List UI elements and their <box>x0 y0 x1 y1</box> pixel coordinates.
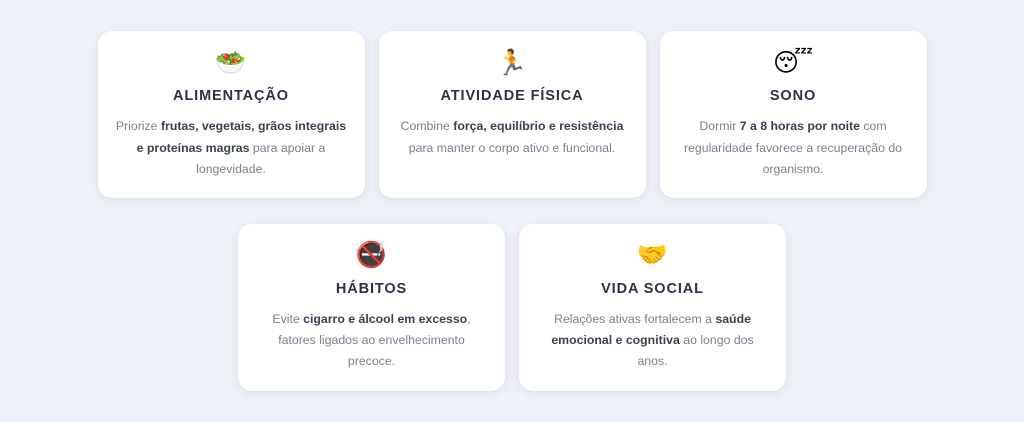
card-habitos[interactable]: 🚭 HÁBITOS Evite cigarro e álcool em exce… <box>238 224 505 391</box>
card-title-habitos: HÁBITOS <box>336 281 407 298</box>
card-title-alimentacao: ALIMENTAÇÃO <box>173 88 289 105</box>
card-alimentacao[interactable]: 🥗 ALIMENTAÇÃO Priorize frutas, vegetais,… <box>98 31 365 198</box>
person-running-icon: 🏃 <box>496 47 527 79</box>
card-body-habitos: Evite cigarro e álcool em excesso, fator… <box>256 309 487 372</box>
handshake-icon: 🤝 <box>637 240 668 272</box>
card-row-bottom: 🚭 HÁBITOS Evite cigarro e álcool em exce… <box>238 224 786 391</box>
card-title-sono: SONO <box>770 88 816 105</box>
card-title-vida-social: VIDA SOCIAL <box>601 281 704 298</box>
sleeping-face-icon: 😴 <box>773 47 813 79</box>
card-vida-social[interactable]: 🤝 VIDA SOCIAL Relações ativas fortalecem… <box>519 224 786 391</box>
card-body-atividade-fisica: Combine força, equilíbrio e resistência … <box>397 116 628 158</box>
card-body-alimentacao: Priorize frutas, vegetais, grãos integra… <box>116 116 347 179</box>
card-sono[interactable]: 😴 SONO Dormir 7 a 8 horas por noite com … <box>660 31 927 198</box>
no-smoking-icon: 🚭 <box>356 240 387 272</box>
card-title-atividade-fisica: ATIVIDADE FÍSICA <box>440 88 583 105</box>
card-body-sono: Dormir 7 a 8 horas por noite com regular… <box>678 116 909 179</box>
card-atividade-fisica[interactable]: 🏃 ATIVIDADE FÍSICA Combine força, equilí… <box>379 31 646 198</box>
card-row-top: 🥗 ALIMENTAÇÃO Priorize frutas, vegetais,… <box>98 31 927 198</box>
longevity-pillars-board: 🥗 ALIMENTAÇÃO Priorize frutas, vegetais,… <box>0 0 1024 422</box>
card-body-vida-social: Relações ativas fortalecem a saúde emoci… <box>537 309 768 372</box>
green-salad-icon: 🥗 <box>215 47 246 79</box>
